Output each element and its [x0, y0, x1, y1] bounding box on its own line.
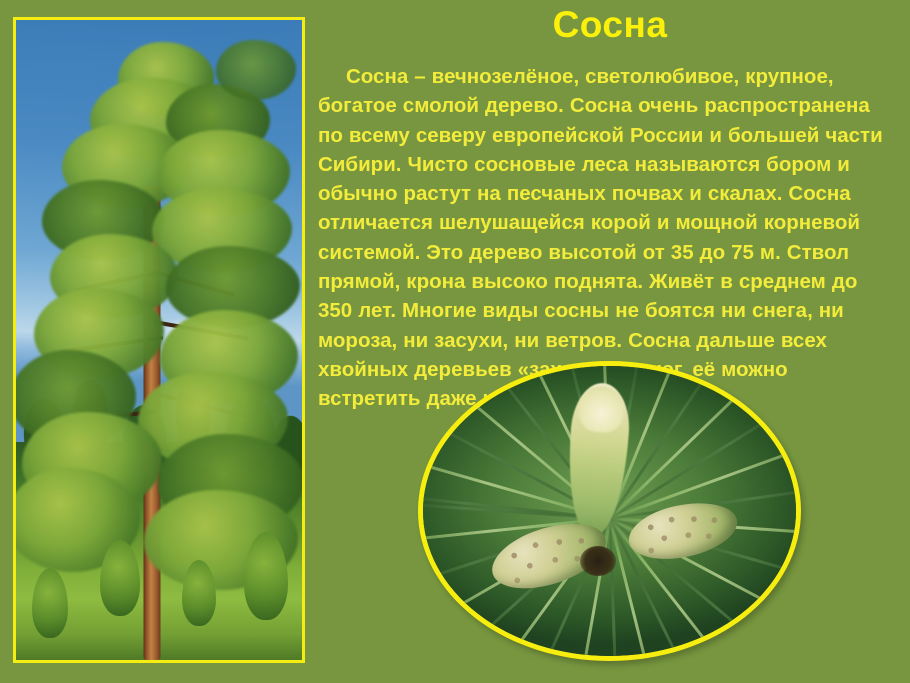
candle-tip [578, 385, 625, 434]
tree-photo [13, 17, 305, 663]
branch-node [580, 546, 616, 576]
slide-canvas: Сосна Сосна – вечнозелёное, светолюбивое… [0, 0, 910, 683]
foliage-cluster [216, 40, 296, 100]
page-title: Сосна [310, 2, 910, 48]
cone-photo [418, 361, 801, 661]
